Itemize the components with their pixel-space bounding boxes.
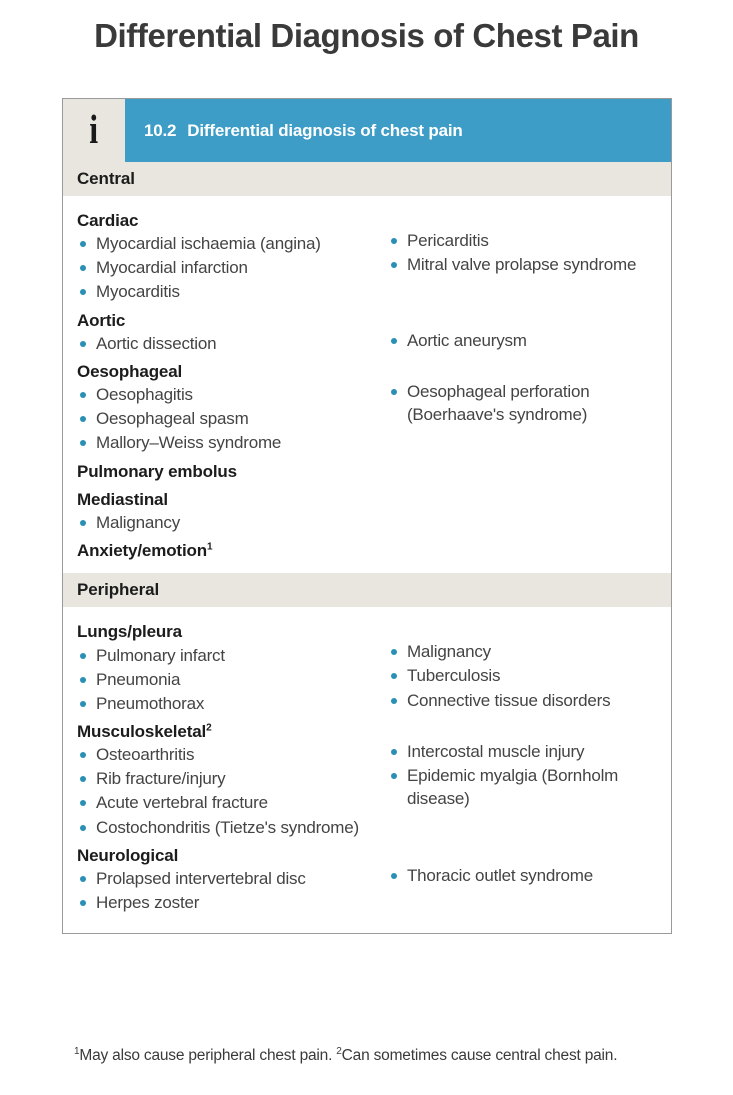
list-item: Tuberculosis — [388, 664, 671, 687]
list-item: Oesophageal spasm — [77, 407, 388, 430]
list-item: Herpes zoster — [77, 891, 388, 914]
footnote-text-2: Can sometimes cause central chest pain. — [342, 1047, 618, 1064]
subsection-heading-label: Mediastinal — [77, 490, 168, 509]
subsection-heading: Lungs/pleura — [77, 621, 388, 642]
subsection-group: Musculoskeletal2OsteoarthritisRib fractu… — [63, 716, 671, 840]
subsection-heading-label: Oesophageal — [77, 362, 182, 381]
list-item: Osteoarthritis — [77, 743, 388, 766]
subsection-heading-label: Cardiac — [77, 211, 138, 230]
footnote-text-1: May also cause peripheral chest pain. — [79, 1047, 336, 1064]
diagnosis-list: OesophagitisOesophageal spasmMallory–Wei… — [77, 383, 388, 454]
footnote: 1May also cause peripheral chest pain. 2… — [62, 1036, 674, 1065]
subsection-heading-footnote-marker: 2 — [206, 722, 211, 733]
list-item: Malignancy — [388, 640, 671, 663]
info-box-card: i 10.2 Differential diagnosis of chest p… — [62, 98, 672, 934]
subsection-group: NeurologicalProlapsed intervertebral dis… — [63, 840, 671, 915]
list-item: Myocardial ischaemia (angina) — [77, 232, 388, 255]
diagnosis-list: Malignancy — [77, 511, 388, 534]
section-body: Lungs/pleuraPulmonary infarctPneumoniaPn… — [63, 607, 671, 925]
subsection-heading-label: Anxiety/emotion — [77, 541, 207, 560]
diagnosis-list: PericarditisMitral valve prolapse syndro… — [388, 229, 671, 276]
subsection-heading: Musculoskeletal2 — [77, 721, 388, 742]
list-item: Pneumonia — [77, 668, 388, 691]
list-item: Myocarditis — [77, 280, 388, 303]
subsection-left-column: NeurologicalProlapsed intervertebral dis… — [63, 840, 388, 915]
diagnosis-list: Oesophageal perforation (Boerhaave's syn… — [388, 380, 671, 426]
subsection-heading-label: Pulmonary embolus — [77, 462, 237, 481]
diagnosis-list: Myocardial ischaemia (angina)Myocardial … — [77, 232, 388, 303]
section-band: Peripheral — [63, 573, 671, 607]
subsection-right-column: Oesophageal perforation (Boerhaave's syn… — [388, 356, 671, 456]
list-item: Mallory–Weiss syndrome — [77, 431, 388, 454]
footer-divider — [63, 933, 671, 934]
diagnosis-list: Thoracic outlet syndrome — [388, 864, 671, 887]
subsection-heading: Oesophageal — [77, 361, 388, 382]
page-title: Differential Diagnosis of Chest Pain — [0, 18, 733, 55]
list-item: Oesophagitis — [77, 383, 388, 406]
subsection-heading: Pulmonary embolus — [77, 461, 388, 482]
card-header-banner: i 10.2 Differential diagnosis of chest p… — [63, 99, 671, 162]
subsection-right-column: Aortic aneurysm — [388, 305, 671, 356]
subsection-heading-footnote-marker: 1 — [207, 541, 212, 552]
subsection-heading-label: Neurological — [77, 846, 178, 865]
diagnosis-list: Pulmonary infarctPneumoniaPneumothorax — [77, 644, 388, 715]
list-item: Connective tissue disorders — [388, 689, 671, 712]
section-body: CardiacMyocardial ischaemia (angina)Myoc… — [63, 196, 671, 573]
subsection-left-column: Anxiety/emotion1 — [63, 535, 388, 563]
subsection-left-column: AorticAortic dissection — [63, 305, 388, 356]
subsection-right-column — [388, 484, 671, 535]
list-item: Rib fracture/injury — [77, 767, 388, 790]
subsection-left-column: MediastinalMalignancy — [63, 484, 388, 535]
card-header-bar: 10.2 Differential diagnosis of chest pai… — [125, 99, 671, 162]
subsection-left-column: OesophagealOesophagitisOesophageal spasm… — [63, 356, 388, 456]
list-item: Pulmonary infarct — [77, 644, 388, 667]
subsection-group: MediastinalMalignancy — [63, 484, 671, 535]
list-item: Prolapsed intervertebral disc — [77, 867, 388, 890]
list-item: Myocardial infarction — [77, 256, 388, 279]
subsection-group: OesophagealOesophagitisOesophageal spasm… — [63, 356, 671, 456]
list-item: Malignancy — [77, 511, 388, 534]
subsection-group: Lungs/pleuraPulmonary infarctPneumoniaPn… — [63, 616, 671, 716]
subsection-group: Pulmonary embolus — [63, 456, 671, 484]
list-item: Oesophageal perforation (Boerhaave's syn… — [388, 380, 671, 426]
subsection-group: CardiacMyocardial ischaemia (angina)Myoc… — [63, 205, 671, 305]
list-item: Aortic aneurysm — [388, 329, 671, 352]
subsection-left-column: Musculoskeletal2OsteoarthritisRib fractu… — [63, 716, 388, 840]
subsection-heading: Anxiety/emotion1 — [77, 540, 388, 561]
list-item: Aortic dissection — [77, 332, 388, 355]
subsection-left-column: CardiacMyocardial ischaemia (angina)Myoc… — [63, 205, 388, 305]
card-number: 10.2 — [144, 121, 176, 141]
subsection-heading: Aortic — [77, 310, 388, 331]
subsection-heading: Mediastinal — [77, 489, 388, 510]
list-item: Costochondritis (Tietze's syndrome) — [77, 816, 388, 839]
subsection-group: Anxiety/emotion1 — [63, 535, 671, 563]
subsection-heading-label: Aortic — [77, 311, 125, 330]
subsection-heading-label: Lungs/pleura — [77, 622, 182, 641]
subsection-left-column: Pulmonary embolus — [63, 456, 388, 484]
subsection-right-column: Thoracic outlet syndrome — [388, 840, 671, 915]
list-item: Mitral valve prolapse syndrome — [388, 253, 671, 276]
list-item: Pericarditis — [388, 229, 671, 252]
diagnosis-list: Aortic aneurysm — [388, 329, 671, 352]
subsection-left-column: Lungs/pleuraPulmonary infarctPneumoniaPn… — [63, 616, 388, 716]
subsection-right-column: Intercostal muscle injuryEpidemic myalgi… — [388, 716, 671, 840]
diagnosis-list: OsteoarthritisRib fracture/injuryAcute v… — [77, 743, 388, 838]
diagnosis-list: Intercostal muscle injuryEpidemic myalgi… — [388, 740, 671, 810]
subsection-heading: Neurological — [77, 845, 388, 866]
card-title: Differential diagnosis of chest pain — [187, 121, 462, 141]
diagnosis-list: Aortic dissection — [77, 332, 388, 355]
sections-container: CentralCardiacMyocardial ischaemia (angi… — [63, 162, 671, 925]
subsection-right-column: PericarditisMitral valve prolapse syndro… — [388, 205, 671, 305]
list-item: Epidemic myalgia (Bornholm disease) — [388, 764, 671, 810]
subsection-right-column — [388, 535, 671, 563]
list-item: Intercostal muscle injury — [388, 740, 671, 763]
subsection-right-column — [388, 456, 671, 484]
list-item: Pneumothorax — [77, 692, 388, 715]
list-item: Acute vertebral fracture — [77, 791, 388, 814]
information-i-icon: i — [63, 99, 125, 162]
section-band: Central — [63, 162, 671, 196]
subsection-heading: Cardiac — [77, 210, 388, 231]
diagnosis-list: MalignancyTuberculosisConnective tissue … — [388, 640, 671, 711]
subsection-group: AorticAortic dissectionAortic aneurysm — [63, 305, 671, 356]
subsection-heading-label: Musculoskeletal — [77, 722, 206, 741]
subsection-right-column: MalignancyTuberculosisConnective tissue … — [388, 616, 671, 716]
list-item: Thoracic outlet syndrome — [388, 864, 671, 887]
diagnosis-list: Prolapsed intervertebral discHerpes zost… — [77, 867, 388, 914]
